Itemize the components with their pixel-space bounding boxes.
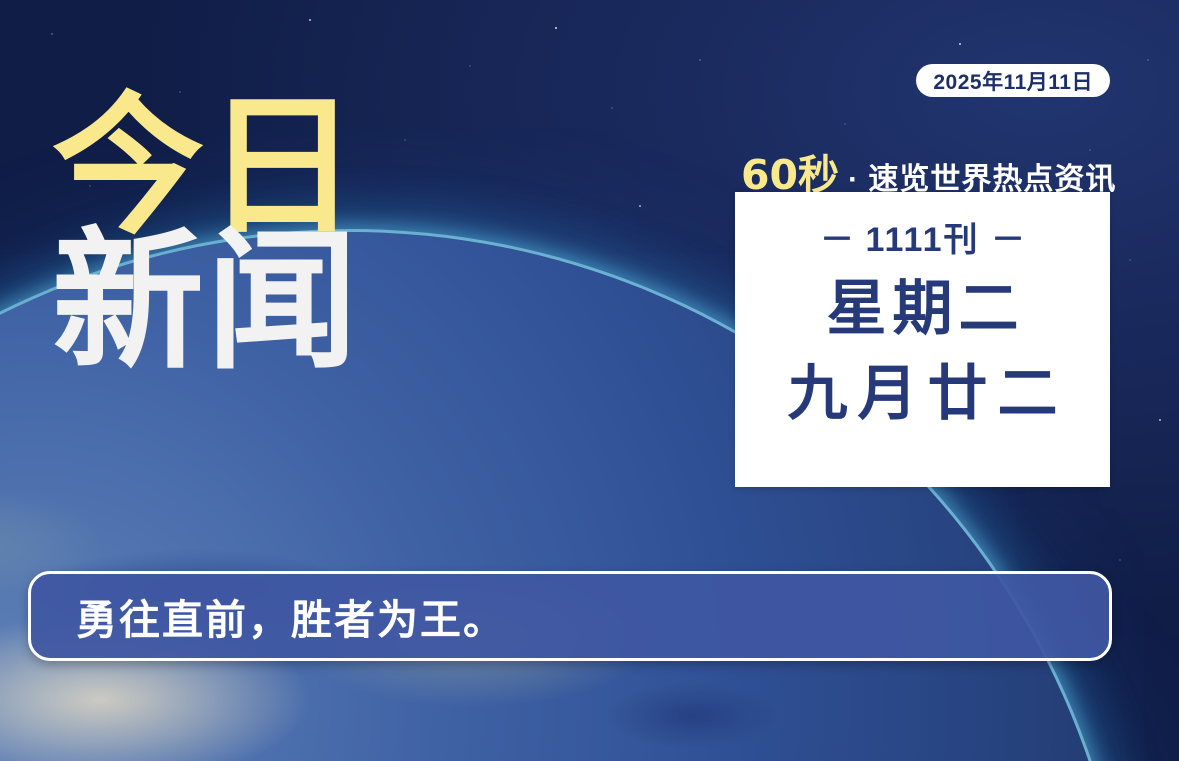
issue-number: 1111刊: [865, 221, 979, 259]
issue-dash-right: －: [991, 221, 1025, 259]
weekday-label: 星期二: [821, 277, 1025, 340]
issue-dash-left: －: [820, 221, 854, 259]
issue-row: － 1111刊 －: [820, 212, 1025, 261]
lunar-date-label: 九月廿二: [778, 362, 1068, 425]
quote-text: 勇往直前，胜者为王。: [76, 586, 506, 646]
brand-title: 今日 新闻: [52, 96, 360, 373]
news-poster: 2025年11月11日 今日 新闻 60秒 · 速览世界热点资讯 － 1111刊…: [0, 0, 1179, 761]
brand-title-line-2: 新闻: [52, 231, 360, 372]
quote-bar: 勇往直前，胜者为王。: [28, 571, 1112, 661]
info-card: － 1111刊 － 星期二 九月廿二: [735, 192, 1110, 487]
date-badge: 2025年11月11日: [916, 64, 1110, 97]
content-layer: 2025年11月11日 今日 新闻 60秒 · 速览世界热点资讯 － 1111刊…: [0, 0, 1179, 761]
